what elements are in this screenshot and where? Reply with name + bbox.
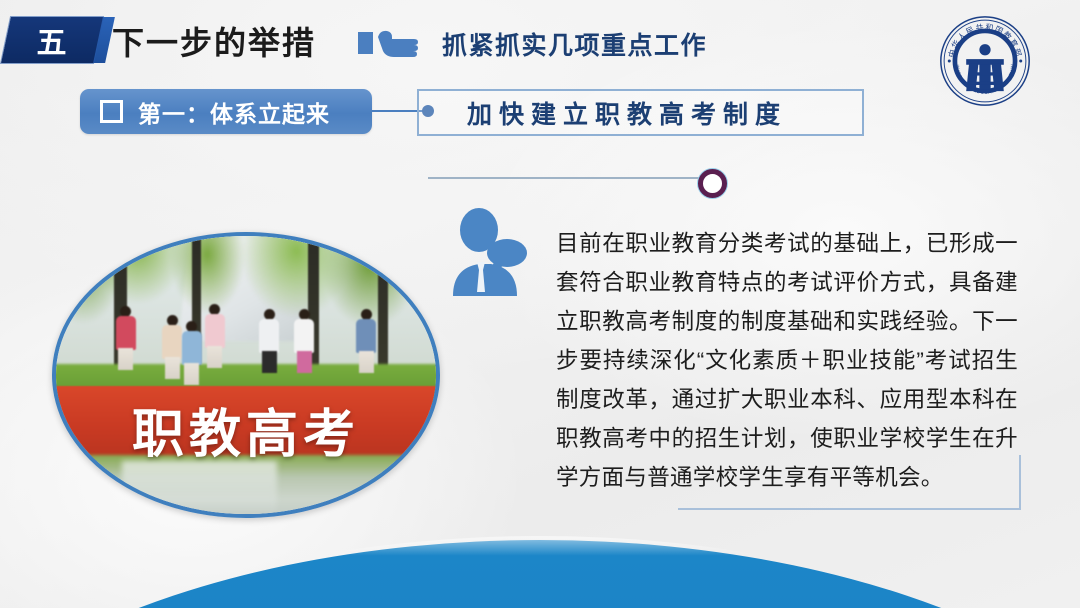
photo-reflection [122,461,277,518]
hand-pointer-icon [358,28,420,58]
ring-marker-icon [698,169,727,198]
page-title: 下一步的举措 [112,18,316,64]
page-subtitle: 抓紧抓实几项重点工作 [442,26,707,62]
corner-bracket-horizontal [678,508,1021,510]
subsection-pill[interactable]: 第一：体系立起来 [80,89,372,134]
ministry-of-education-emblem: 中华人民共和国教育部 MINISTRY OF EDUCATION P.R.CHI… [938,14,1032,108]
body-paragraph: 目前在职业教育分类考试的基础上，已形成一套符合职业教育特点的考试评价方式，具备建… [556,224,1018,497]
horizontal-divider [428,177,700,179]
photo-tree-trunk [378,232,388,381]
square-bullet-icon [100,100,123,123]
headline-box: 加快建立职教高考制度 [417,89,864,136]
person-with-speech-bubble-icon [447,196,547,296]
students-outdoor-photo: 职教高考 [52,232,440,518]
corner-bracket-vertical [1019,455,1021,510]
photo-banner-text: 职教高考 [52,392,440,467]
bottom-arc-highlight [0,536,1080,608]
subsection-pill-label: 第一：体系立起来 [138,95,330,129]
photo-content: 职教高考 [52,232,440,518]
headline-box-label: 加快建立职教高考制度 [467,95,787,131]
slide-canvas: 五 下一步的举措 抓紧抓实几项重点工作 中华人民共和 [0,0,1080,608]
section-number-badge: 五 [1,17,103,63]
section-number-label: 五 [6,17,98,63]
